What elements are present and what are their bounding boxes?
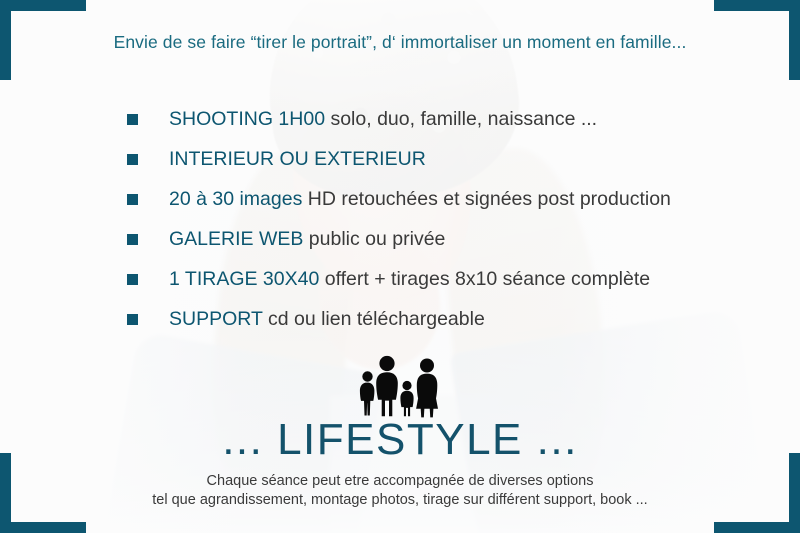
list-item: SUPPORT cd ou lien téléchargeable	[127, 306, 671, 346]
list-item-accent-text: SUPPORT	[169, 308, 263, 330]
list-item-label: GALERIE WEB public ou privée	[169, 226, 445, 252]
list-item-label: INTERIEUR OU EXTERIEUR	[169, 146, 426, 172]
headline: Envie de se faire “tirer le portrait”, d…	[0, 32, 800, 53]
list-item-accent-text: SHOOTING 1H00	[169, 108, 325, 130]
list-item-label: SHOOTING 1H00 solo, duo, famille, naissa…	[169, 106, 597, 132]
lifestyle-wordmark: ... LIFESTYLE ...	[0, 418, 800, 462]
list-item-accent-text: INTERIEUR OU EXTERIEUR	[169, 148, 426, 170]
footnote: Chaque séance peut etre accompagnée de d…	[0, 472, 800, 510]
list-item-label: SUPPORT cd ou lien téléchargeable	[169, 306, 485, 332]
list-item-accent-text: 20 à 30 images	[169, 188, 302, 210]
list-item-accent-text: 1 TIRAGE 30X40	[169, 268, 319, 290]
square-bullet-icon	[127, 114, 138, 125]
offer-feature-list: SHOOTING 1H00 solo, duo, famille, naissa…	[127, 106, 671, 346]
list-item-detail-text: solo, duo, famille, naissance ...	[325, 108, 597, 130]
footnote-line-1: Chaque séance peut etre accompagnée de d…	[0, 472, 800, 491]
square-bullet-icon	[127, 194, 138, 205]
square-bullet-icon	[127, 234, 138, 245]
list-item-detail-text: cd ou lien téléchargeable	[263, 308, 485, 330]
lifestyle-offer-card: Envie de se faire “tirer le portrait”, d…	[0, 0, 800, 533]
list-item: 20 à 30 images HD retouchées et signées …	[127, 186, 671, 226]
list-item: SHOOTING 1H00 solo, duo, famille, naissa…	[127, 106, 671, 146]
list-item: GALERIE WEB public ou privée	[127, 226, 671, 266]
square-bullet-icon	[127, 274, 138, 285]
footnote-line-2: tel que agrandissement, montage photos, …	[0, 491, 800, 510]
card-content: Envie de se faire “tirer le portrait”, d…	[0, 0, 800, 533]
square-bullet-icon	[127, 154, 138, 165]
list-item-accent-text: GALERIE WEB	[169, 228, 303, 250]
list-item-detail-text: public ou privée	[303, 228, 445, 250]
list-item-detail-text: offert + tirages 8x10 séance complète	[319, 268, 650, 290]
list-item-label: 1 TIRAGE 30X40 offert + tirages 8x10 séa…	[169, 266, 650, 292]
square-bullet-icon	[127, 314, 138, 325]
list-item-label: 20 à 30 images HD retouchées et signées …	[169, 186, 671, 212]
list-item: 1 TIRAGE 30X40 offert + tirages 8x10 séa…	[127, 266, 671, 306]
list-item: INTERIEUR OU EXTERIEUR	[127, 146, 671, 186]
list-item-detail-text: HD retouchées et signées post production	[302, 188, 671, 210]
